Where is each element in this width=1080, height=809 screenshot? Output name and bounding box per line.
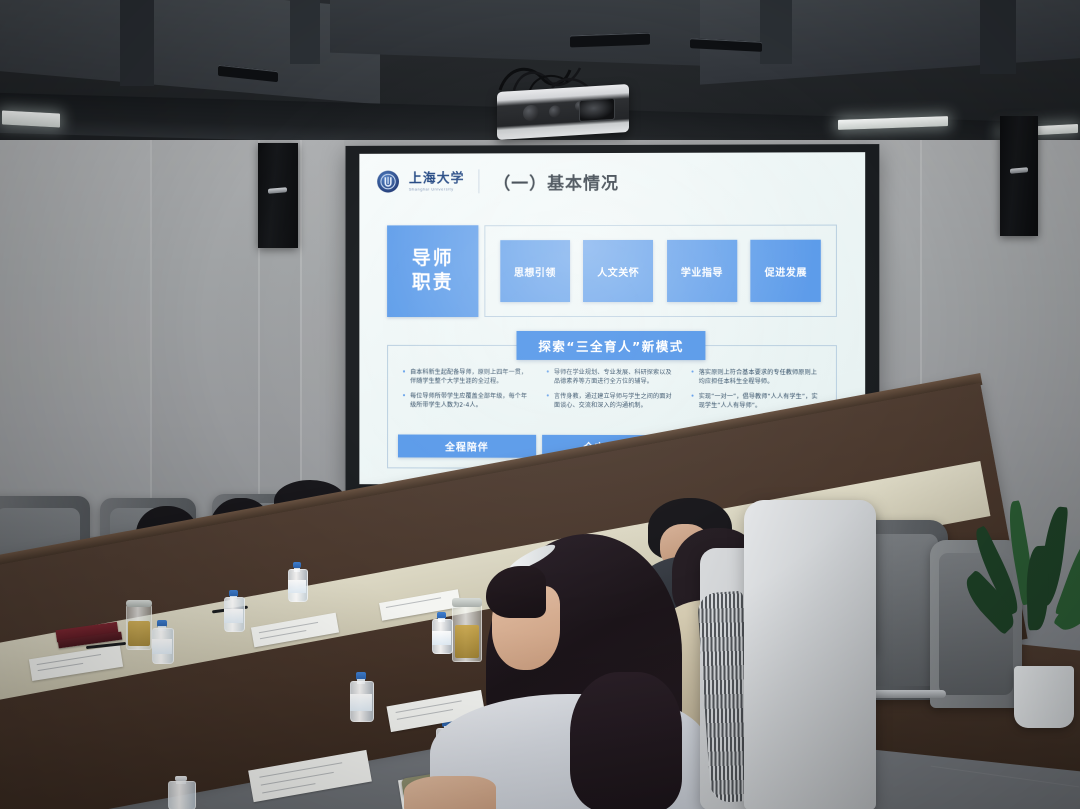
projector-knob [549,105,561,118]
water-bottle[interactable] [224,590,243,632]
tumbler-lid [452,598,482,607]
bullet-item: • 自本科新生起配备导师，原则上四年一贯，伴随学生整个大学生涯的全过程。 [402,368,532,386]
tumbler-lid [126,600,152,607]
wall-panel [0,140,150,540]
duty-main-block: 导师 职责 [387,225,478,317]
ceiling-slab [330,0,750,67]
brand-name-en: Shanghai University [409,187,465,191]
bullet-item: • 每位导师所带学生应覆盖全部年级，每个年级所带学生人数为2-4人。 [402,392,532,410]
slide-banner: 探索“三全育人”新模式 [516,331,705,360]
ceiling-beam [290,0,320,64]
model-column: • 自本科新生起配备导师，原则上四年一贯，伴随学生整个大学生涯的全过程。 • 每… [398,368,536,429]
plant-pot [1014,666,1074,728]
ceiling-slab [0,0,380,104]
brand-name-cn: 上海大学 [409,172,465,185]
water-bottle[interactable] [168,776,194,809]
bullet-item: • 导师在学业规划、专业发展、科研探索以及品德素养等方面进行全方位的辅导。 [546,368,677,386]
bullet-dot-icon: • [402,368,406,386]
brand-wordmark: 上海大学 Shanghai University [409,172,465,191]
bullet-dot-icon: • [546,392,550,410]
water-bottle[interactable] [288,562,306,602]
bullet-text: 落实原则上符合基本要求的专任教师原则上均应担任本科生全程导师。 [699,368,822,386]
duty-chip: 促进发展 [751,240,821,302]
model-button: 全程陪伴 [398,435,536,458]
speaker-grille-icon [268,187,287,194]
tea-tumbler[interactable] [126,604,152,650]
duty-chip: 思想引领 [500,240,570,302]
slide-header: 上海大学 Shanghai University （一）基本情况 [377,164,847,197]
tea-tumbler[interactable] [452,604,482,662]
wall-seam [150,140,152,540]
bullet-dot-icon: • [546,368,550,386]
wall-speaker-right [1000,116,1038,236]
bullet-text: 导师在学业规划、专业发展、科研探索以及品德素养等方面进行全方位的辅导。 [554,368,676,386]
water-bottle[interactable] [152,620,172,664]
office-chair-back-panel[interactable] [744,500,876,809]
header-divider [478,169,479,193]
tumbler-contents [128,621,149,647]
bullet-text: 每位导师所带学生应覆盖全部年级，每个年级所带学生人数为2-4人。 [410,392,532,410]
duty-chip-list: 思想引领 人文关怀 学业指导 促进发展 [484,225,837,317]
duty-main-line-2: 职责 [412,271,454,295]
duty-main-line-1: 导师 [412,247,454,271]
ceiling-beam [760,0,792,64]
projector [497,84,629,140]
ceiling-light [2,110,60,127]
projector-lens-icon [579,98,615,122]
water-bottle[interactable] [432,612,451,654]
tumbler-contents [455,625,480,657]
hair-over-shoulder [570,672,682,809]
shanghai-university-logo-icon [377,171,399,193]
projector-knob [523,104,539,121]
water-bottle[interactable] [350,672,372,722]
conference-room-scene: 上海大学 Shanghai University （一）基本情况 导师 职责 思… [0,0,1080,809]
ceiling-beam [120,0,154,86]
bullet-text: 自本科新生起配备导师，原则上四年一贯，伴随学生整个大学生涯的全过程。 [410,368,532,386]
slide-title: （一）基本情况 [493,168,619,193]
bullet-item: • 言传身教，通过建立导师与学生之间的面对面谈心、交流和深入的沟通机制。 [546,392,677,410]
bullet-dot-icon: • [402,392,406,410]
hand [404,776,496,809]
ceiling-beam [980,0,1016,74]
duty-chip: 学业指导 [667,240,737,302]
speaker-grille-icon [1010,167,1028,174]
bullet-dot-icon: • [690,368,694,386]
bullet-dot-icon: • [690,392,694,410]
bullet-text: 言传身教，通过建立导师与学生之间的面对面谈心、交流和深入的沟通机制。 [554,392,676,410]
duties-section: 导师 职责 思想引领 人文关怀 学业指导 促进发展 [387,225,837,317]
bullet-item: • 落实原则上符合基本要求的专任教师原则上均应担任本科生全程导师。 [690,368,821,386]
model-column: • 导师在学业规划、专业发展、科研探索以及品德素养等方面进行全方位的辅导。 • … [542,368,681,429]
wall-speaker-left [258,143,298,248]
duty-chip: 人文关怀 [583,240,653,302]
